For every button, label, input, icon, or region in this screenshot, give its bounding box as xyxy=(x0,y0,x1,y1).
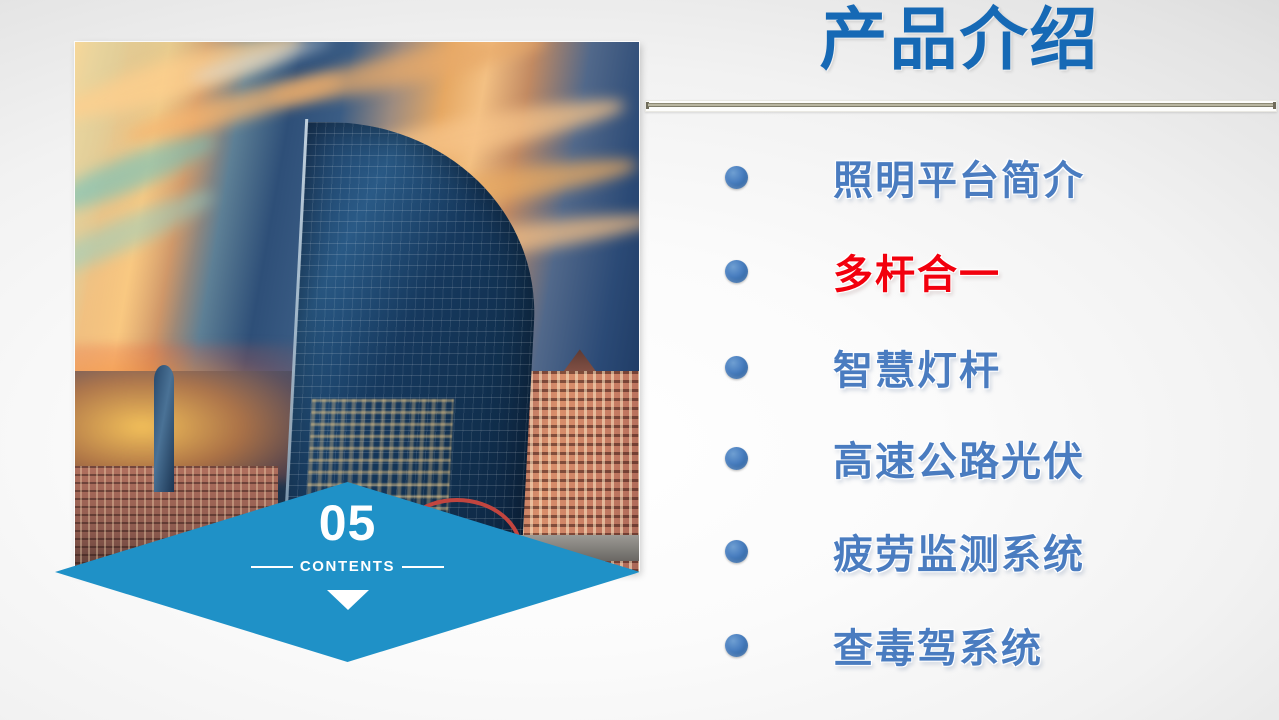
roadway xyxy=(323,535,639,562)
low-rise-buildings xyxy=(75,466,278,572)
bullet-dot-icon xyxy=(725,634,748,657)
bullet-dot-icon xyxy=(725,356,748,379)
page-title: 产品介绍 xyxy=(640,4,1279,79)
list-item[interactable]: 智慧灯杆 xyxy=(640,330,1279,404)
bullet-list: 照明平台简介 多杆合一 智慧灯杆 高速公路光伏 疲劳监测系统 查毒驾系统 xyxy=(640,130,1279,710)
cityscape-photo xyxy=(75,42,639,572)
list-item[interactable]: 照明平台简介 xyxy=(640,140,1279,214)
list-item-label: 智慧灯杆 xyxy=(833,338,1001,396)
list-item[interactable]: 疲劳监测系统 xyxy=(640,514,1279,588)
list-item-label: 查毒驾系统 xyxy=(833,616,1043,674)
slide-canvas: 05 CONTENTS 产品介绍 照明平台简介 多杆合一 智慧灯杆 高速公路光伏 xyxy=(0,0,1279,720)
bullet-dot-icon xyxy=(725,540,748,563)
list-item-label: 高速公路光伏 xyxy=(833,429,1085,487)
bullet-dot-icon xyxy=(725,447,748,470)
caret-down-icon xyxy=(327,590,369,610)
list-item[interactable]: 查毒驾系统 xyxy=(640,608,1279,682)
list-item-label: 疲劳监测系统 xyxy=(833,522,1085,580)
list-item[interactable]: 多杆合一 xyxy=(640,234,1279,308)
list-item-label: 照明平台简介 xyxy=(833,148,1085,206)
spire-tower xyxy=(154,365,174,492)
photo-artwork xyxy=(75,42,639,572)
list-item[interactable]: 高速公路光伏 xyxy=(640,421,1279,495)
bullet-dot-icon xyxy=(725,166,748,189)
list-item-label: 多杆合一 xyxy=(833,242,1001,300)
title-divider xyxy=(645,100,1277,112)
bullet-dot-icon xyxy=(725,260,748,283)
sunset-glow xyxy=(75,344,318,482)
